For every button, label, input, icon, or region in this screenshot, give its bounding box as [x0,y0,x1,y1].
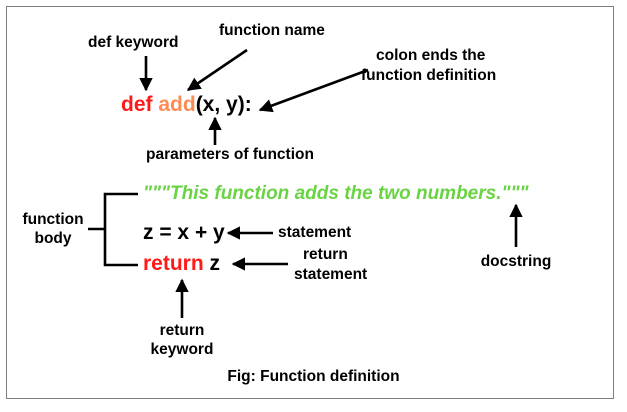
label-return-statement-line2: statement [294,266,367,284]
label-function-name: function name [219,22,325,40]
code-return-line: return z [143,252,220,276]
label-return-keyword-line2: keyword [132,341,232,359]
figure-caption: Fig: Function definition [0,368,627,386]
code-def-keyword: def [121,93,153,116]
label-colon-line2: function definition [361,67,496,85]
label-def-keyword: def keyword [88,34,178,52]
label-function-body-line1: function [18,211,88,229]
diagram-canvas: def keyword function name colon ends the… [0,0,627,412]
code-statement: z = x + y [143,221,225,245]
code-signature: def add(x, y): [121,93,252,117]
code-docstring: """This function adds the two numbers.""… [143,183,529,205]
label-parameters: parameters of function [146,146,314,164]
code-return-value: z [210,252,221,275]
code-return-keyword: return [143,252,204,275]
label-statement: statement [278,224,351,242]
label-docstring: docstring [466,253,566,271]
label-function-body-line2: body [18,230,88,248]
label-return-statement-line1: return [303,246,348,264]
code-function-name: add [158,93,195,116]
code-parameters: (x, y): [196,93,252,116]
label-return-keyword-line1: return [132,322,232,340]
label-colon-line1: colon ends the [376,47,485,65]
